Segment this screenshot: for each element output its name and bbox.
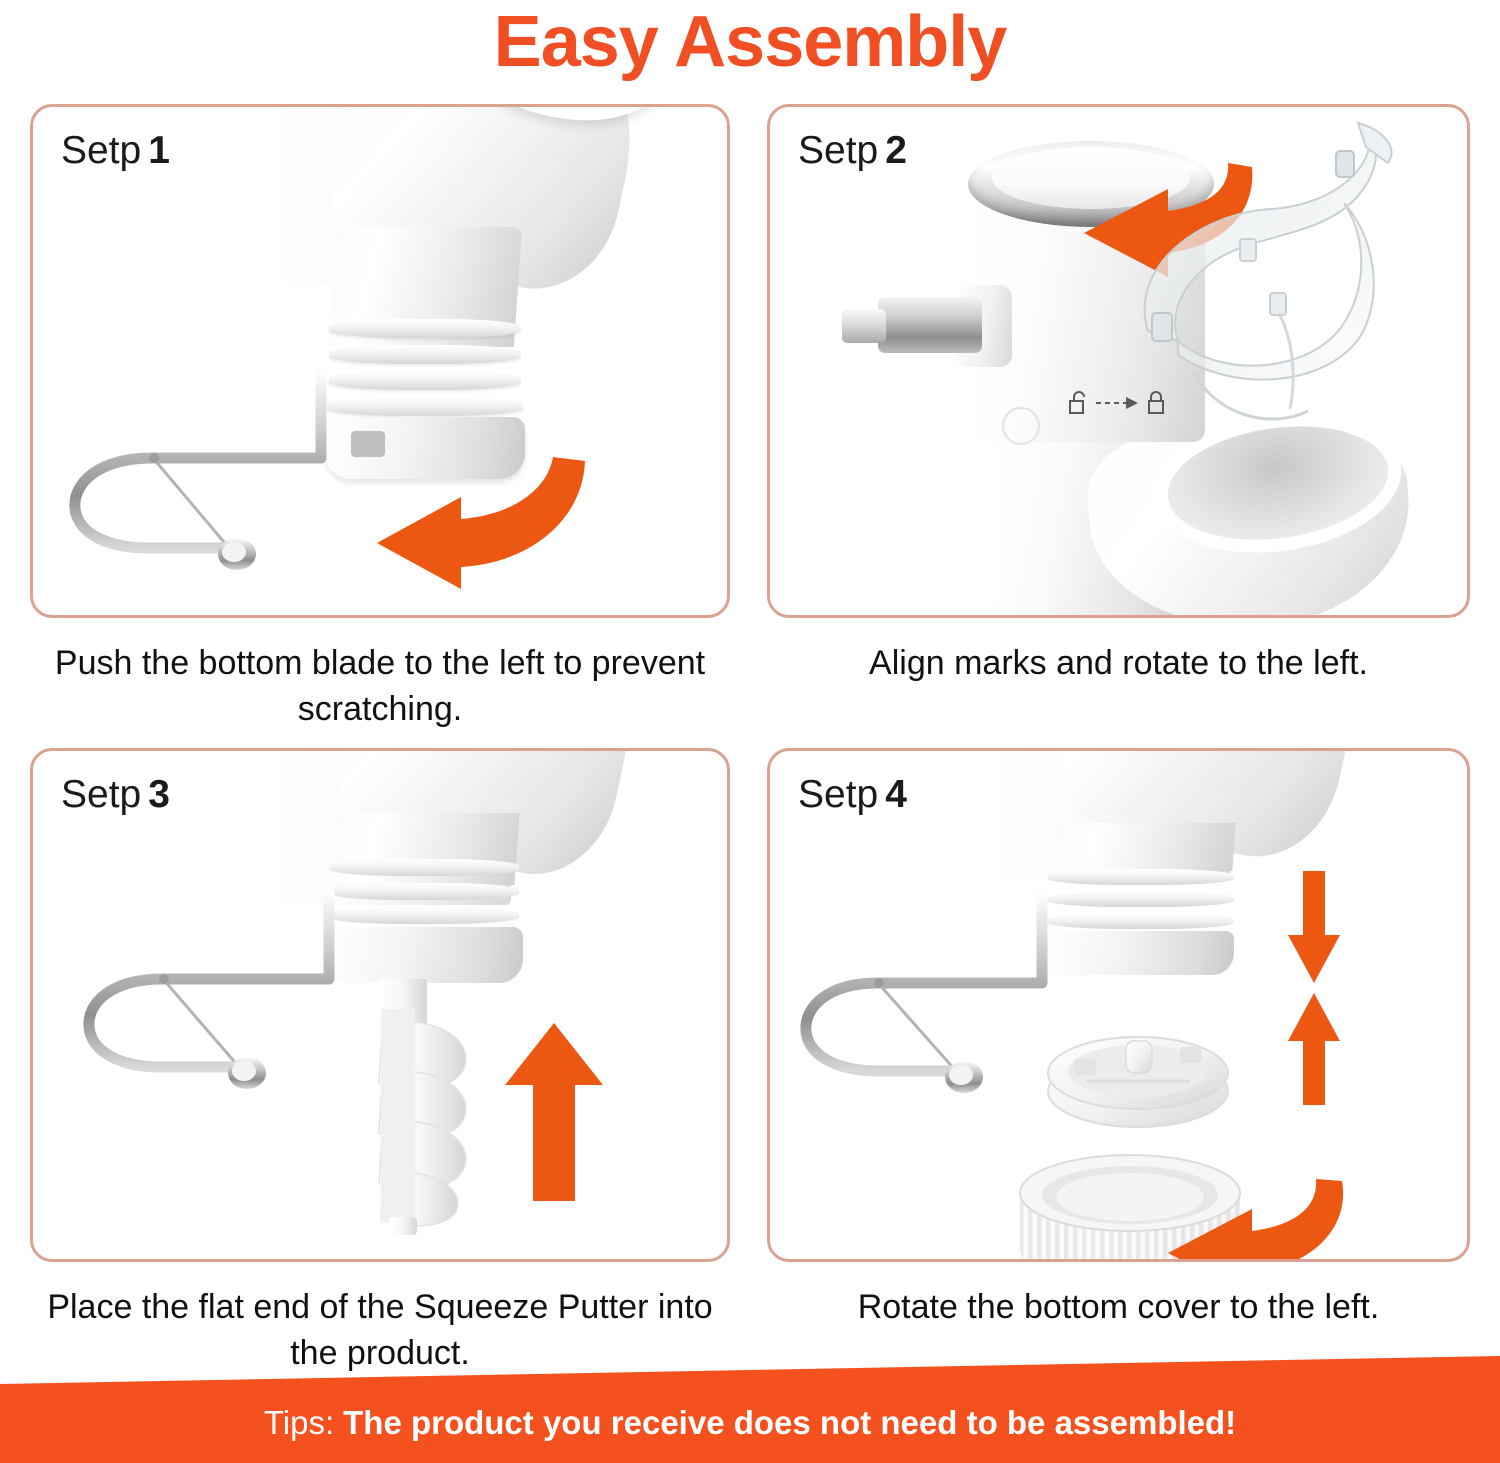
step-card-1: Setp1: [30, 104, 730, 618]
release-button[interactable]: [1002, 407, 1040, 445]
step-label-number-4: 4: [885, 773, 907, 816]
step-label-number-2: 2: [885, 129, 907, 172]
step-label-2: Setp2: [798, 129, 907, 173]
step-label-number-3: 3: [148, 773, 170, 816]
step-block-1: Setp1: [30, 104, 730, 732]
step-illustration-3: [33, 751, 727, 1259]
tips-lead-label: Tips:: [264, 1404, 334, 1442]
thread-ring: [329, 345, 521, 364]
step-label-number-1: 1: [148, 129, 170, 172]
thread-ring: [329, 371, 521, 390]
drive-shaft-tip: [842, 309, 886, 343]
step-label-1: Setp1: [61, 129, 170, 173]
push-down-arrow-icon: [1286, 871, 1342, 988]
rotate-left-arrow-icon: [333, 447, 613, 602]
insert-up-arrow-icon: [499, 1023, 609, 1206]
tips-text: Tips: The product you receive does not n…: [0, 1356, 1500, 1463]
thread-ring: [329, 859, 519, 876]
tips-banner: Tips: The product you receive does not n…: [0, 1356, 1500, 1463]
thread-ring: [327, 397, 523, 416]
threaded-neck: [1054, 823, 1235, 871]
tips-message: The product you receive does not need to…: [343, 1404, 1236, 1442]
step-block-4: Setp4: [767, 748, 1470, 1330]
unlock-icon: [1068, 390, 1090, 421]
wire-blade-arm: [53, 362, 353, 582]
steps-grid: Setp1: [0, 104, 1500, 1354]
step-card-2: Setp2: [767, 104, 1470, 618]
step-block-2: Setp2: [767, 104, 1470, 686]
step-card-4: Setp4: [767, 748, 1470, 1262]
clear-attachment: [1122, 117, 1422, 447]
step-illustration-1: [33, 107, 727, 615]
step-label-word-2: Setp: [798, 129, 878, 172]
thread-ring: [329, 319, 521, 338]
push-up-arrow-icon: [1286, 993, 1342, 1110]
step-label-3: Setp3: [61, 773, 170, 817]
step-card-3: Setp3: [30, 748, 730, 1262]
step-label-4: Setp4: [798, 773, 907, 817]
drive-shaft: [878, 297, 982, 353]
step-label-word-3: Setp: [61, 773, 141, 816]
step-caption-4: Rotate the bottom cover to the left.: [767, 1284, 1470, 1330]
thread-ring: [1048, 869, 1234, 885]
step-caption-1: Push the bottom blade to the left to pre…: [30, 640, 730, 732]
rotate-left-arrow-icon: [1128, 1169, 1358, 1262]
step-label-word-1: Setp: [61, 129, 141, 172]
step-illustration-2: [770, 107, 1467, 615]
step-illustration-4: [770, 751, 1467, 1259]
step-caption-2: Align marks and rotate to the left.: [767, 640, 1470, 686]
page-title: Easy Assembly: [0, 0, 1500, 90]
step-block-3: Setp3: [30, 748, 730, 1376]
strainer-disc: [1038, 1029, 1238, 1133]
auger-screw: [305, 979, 515, 1235]
step-label-word-4: Setp: [798, 773, 878, 816]
